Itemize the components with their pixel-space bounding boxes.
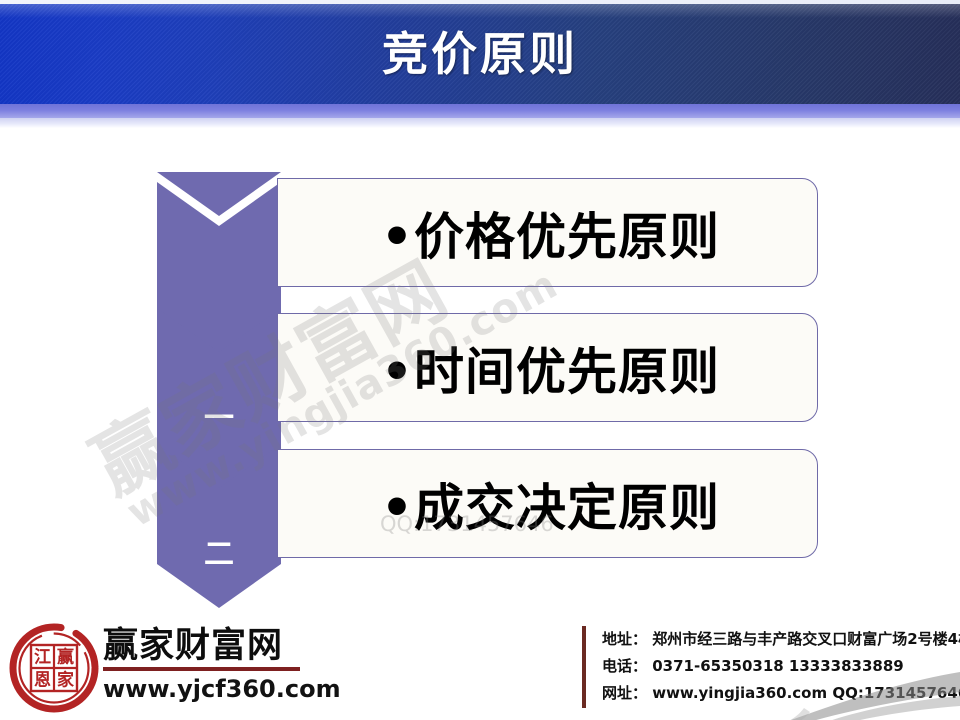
principle-text-3: •成交决定原则 bbox=[278, 468, 817, 540]
contact-address: 地址： 郑州市经三路与丰产路交叉口财富广场2号楼4楼C户 bbox=[602, 626, 960, 653]
brand-website[interactable]: www.yjcf360.com bbox=[103, 674, 323, 704]
principle-box-3[interactable]: •成交决定原则 bbox=[277, 449, 818, 558]
chevron-column: 一 二 三 bbox=[157, 172, 281, 608]
principle-box-1[interactable]: •价格优先原则 bbox=[277, 178, 818, 287]
slide: 竞价原则 赢家财富网 www.yingjia360.com QQ:1731457… bbox=[0, 0, 960, 720]
principle-text-2: •时间优先原则 bbox=[278, 332, 817, 404]
principle-text-1: •价格优先原则 bbox=[278, 197, 817, 269]
header-accent-band-light bbox=[0, 118, 960, 128]
seal-char-4: 家 bbox=[57, 670, 74, 691]
contact-website: 网址： www.yingjia360.com QQ:1731457646 bbox=[602, 680, 960, 707]
contact-block: 地址： 郑州市经三路与丰产路交叉口财富广场2号楼4楼C户 电话： 0371-65… bbox=[582, 626, 960, 708]
seal-char-1: 江 bbox=[34, 648, 51, 668]
company-seal-logo: 江 赢 恩 家 bbox=[8, 622, 100, 714]
brand-block: 赢家财富网 www.yjcf360.com bbox=[103, 626, 323, 704]
brand-name: 赢家财富网 bbox=[103, 626, 323, 666]
page-title: 竞价原则 bbox=[0, 4, 960, 104]
brand-divider bbox=[103, 667, 300, 671]
slide-header: 竞价原则 bbox=[0, 0, 960, 131]
slide-footer: 江 赢 恩 家 赢家财富网 www.yjcf360.com 地址： 郑州市经三路… bbox=[0, 608, 960, 720]
contact-phone: 电话： 0371-65350318 13333833889 bbox=[602, 653, 960, 680]
seal-char-2: 赢 bbox=[57, 647, 74, 668]
principle-box-2[interactable]: •时间优先原则 bbox=[277, 313, 818, 422]
chevron-number-1: 一 bbox=[157, 404, 281, 434]
header-accent-band bbox=[0, 104, 960, 118]
seal-char-3: 恩 bbox=[34, 671, 51, 691]
chevron-number-2: 二 bbox=[157, 540, 281, 570]
seal-icon: 江 赢 恩 家 bbox=[8, 622, 100, 714]
